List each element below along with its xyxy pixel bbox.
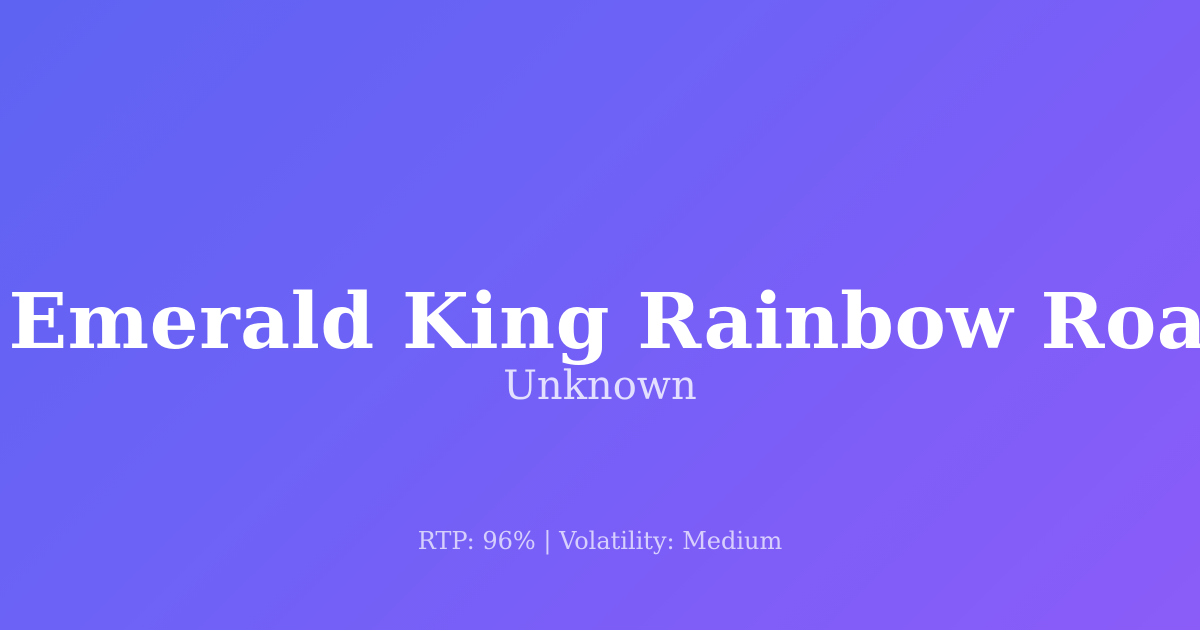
game-meta-footer: RTP: 96% | Volatility: Medium [0,527,1200,556]
page-title: Emerald King Rainbow Road [8,284,1200,361]
og-share-card: 1F B0 Emerald King Rainbow Road Unknown … [0,0,1200,630]
page-subtitle: Unknown [0,363,1200,409]
